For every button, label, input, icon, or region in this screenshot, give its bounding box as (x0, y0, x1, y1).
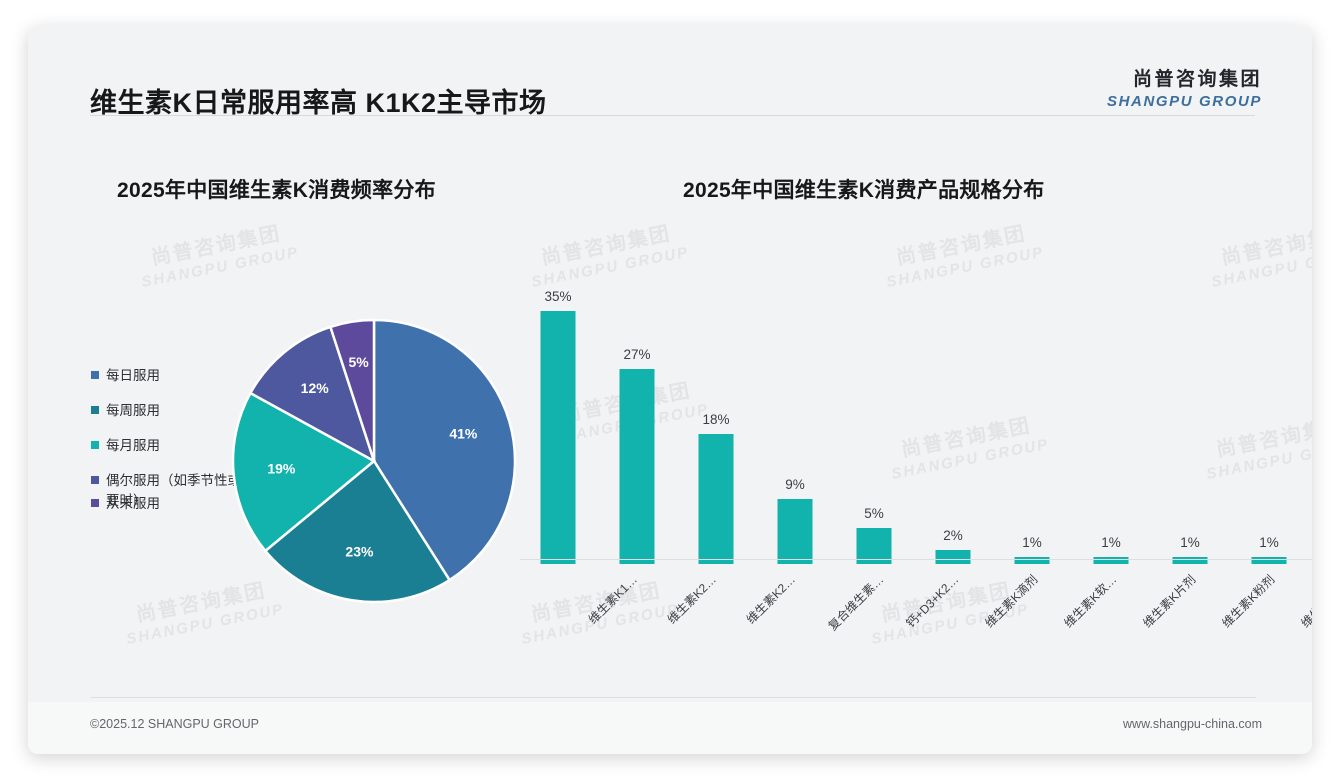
bar-rect[interactable] (936, 550, 971, 564)
legend-label: 从未服用 (106, 494, 160, 514)
website-link[interactable]: www.shangpu-china.com (1123, 717, 1262, 731)
watermark: 尚普咨询集团SHANGPU GROUP (1205, 219, 1312, 293)
logo-text-en: SHANGPU GROUP (1107, 92, 1262, 112)
legend-swatch-icon (91, 476, 99, 484)
bar-column[interactable]: 27% (599, 284, 675, 564)
watermark-cn: 尚普咨询集团 (880, 219, 1042, 274)
bar-column[interactable]: 1% (1231, 284, 1307, 564)
bar-column[interactable]: 35% (520, 284, 596, 564)
bar-x-label: 维生素K软… (1060, 571, 1120, 631)
pie-slice-value: 5% (348, 354, 369, 370)
header: 维生素K日常服用率高 K1K2主导市场 尚普咨询集团 SHANGPU GROUP (28, 26, 1312, 110)
bar-value-label: 35% (544, 289, 571, 304)
bottom-bar: ©2025.12 SHANGPU GROUP www.shangpu-china… (28, 702, 1312, 754)
bar-x-label: 维生素K片剂 (1139, 571, 1199, 631)
bar-x-label: 维生素K2… (663, 571, 719, 627)
bar-x-label: 维生素K注… (1297, 571, 1312, 631)
watermark: 尚普咨询集团SHANGPU GROUP (525, 219, 691, 293)
bar-column[interactable]: 5% (836, 284, 912, 564)
watermark-cn: 尚普咨询集团 (525, 219, 687, 274)
legend-swatch-icon (91, 441, 99, 449)
bar-value-label: 9% (785, 477, 805, 492)
bar-rect[interactable] (1015, 557, 1050, 564)
bar-rect[interactable] (1252, 557, 1287, 564)
legend-item-weekly[interactable]: 每周服用 (91, 401, 160, 421)
bar-chart: 35%27%18%9%5%2%1%1%1%1% (520, 284, 1310, 564)
legend-label: 每月服用 (106, 436, 160, 456)
pie-chart: 41%23%19%12%5% (231, 318, 517, 604)
pie-slice-value: 12% (301, 380, 330, 396)
bar-value-label: 1% (1259, 535, 1279, 550)
bar-value-label: 18% (702, 412, 729, 427)
legend-item-daily[interactable]: 每日服用 (91, 366, 160, 386)
legend-swatch-icon (91, 499, 99, 507)
bar-column[interactable]: 9% (757, 284, 833, 564)
bar-chart-title: 2025年中国维生素K消费产品规格分布 (683, 174, 1045, 204)
watermark: 尚普咨询集团SHANGPU GROUP (135, 219, 301, 293)
bar-column[interactable]: 18% (678, 284, 754, 564)
legend-swatch-icon (91, 406, 99, 414)
logo-text-cn: 尚普咨询集团 (1107, 68, 1262, 92)
bar-value-label: 2% (943, 528, 963, 543)
watermark-en: SHANGPU GROUP (140, 244, 301, 293)
bar-column[interactable]: 1% (1152, 284, 1228, 564)
bar-x-label: 维生素K1… (584, 571, 640, 627)
bar-x-label: 复合维生素… (824, 571, 887, 634)
bar-x-label: 维生素K滴剂 (981, 571, 1041, 631)
bar-value-label: 1% (1022, 535, 1042, 550)
bar-x-label: 钙+D3+K2… (902, 571, 962, 631)
slide-card: 尚普咨询集团SHANGPU GROUP 尚普咨询集团SHANGPU GROUP … (28, 26, 1312, 754)
bar-column[interactable]: 1% (994, 284, 1070, 564)
pie-chart-title: 2025年中国维生素K消费频率分布 (117, 174, 436, 204)
bar-chart-axis-line (520, 559, 1312, 560)
bar-value-label: 1% (1101, 535, 1121, 550)
header-divider (90, 115, 1255, 116)
watermark: 尚普咨询集团SHANGPU GROUP (880, 219, 1046, 293)
bar-value-label: 1% (1180, 535, 1200, 550)
bar-rect[interactable] (778, 499, 813, 564)
bar-value-label: 27% (623, 347, 650, 362)
bar-rect[interactable] (699, 434, 734, 564)
legend-swatch-icon (91, 371, 99, 379)
bar-rect[interactable] (1173, 557, 1208, 564)
watermark-en: SHANGPU GROUP (125, 601, 286, 650)
legend-label: 每日服用 (106, 366, 160, 386)
legend-item-never[interactable]: 从未服用 (91, 494, 160, 514)
bar-rect[interactable] (620, 369, 655, 564)
bar-x-label: 维生素K粉剂 (1218, 571, 1278, 631)
watermark-cn: 尚普咨询集团 (1205, 219, 1312, 274)
pie-slice-value: 41% (449, 426, 478, 442)
bar-rect[interactable] (1094, 557, 1129, 564)
bar-value-label: 5% (864, 506, 884, 521)
pie-slice-value: 19% (267, 460, 296, 476)
copyright-text: ©2025.12 SHANGPU GROUP (90, 717, 259, 731)
company-logo: 尚普咨询集团 SHANGPU GROUP (1107, 68, 1262, 111)
pie-chart-svg: 41%23%19%12%5% (231, 318, 517, 604)
bar-column[interactable]: 2% (915, 284, 991, 564)
legend-label: 每周服用 (106, 401, 160, 421)
pie-slice-value: 23% (345, 544, 374, 560)
watermark-cn: 尚普咨询集团 (135, 219, 297, 274)
bar-rect[interactable] (541, 311, 576, 564)
bar-x-label: 维生素K2… (742, 571, 798, 627)
legend-item-monthly[interactable]: 每月服用 (91, 436, 160, 456)
bar-column[interactable]: 1% (1073, 284, 1149, 564)
